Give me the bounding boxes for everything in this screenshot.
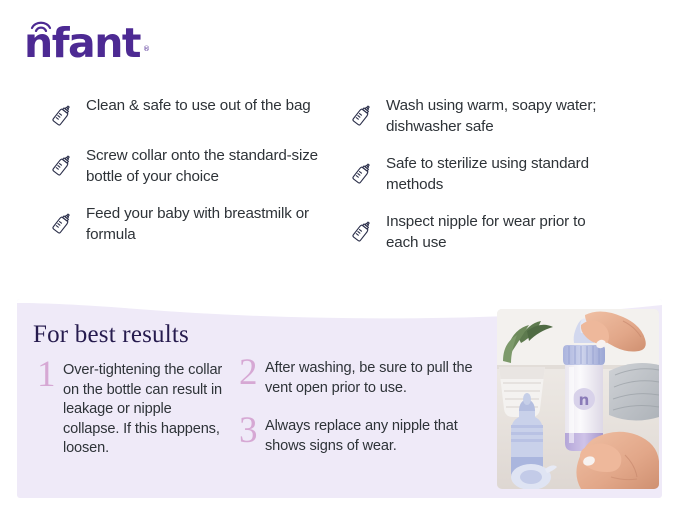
tip-text: Over-tightening the collar on the bottle… — [63, 361, 231, 459]
tip-number: 2 — [239, 355, 265, 391]
feature-text: Inspect nipple for wear prior to each us… — [386, 212, 618, 253]
tip-text: After washing, be sure to pull the vent … — [265, 359, 483, 398]
brand-wordmark: nfant — [24, 20, 140, 66]
feature-list: Clean & safe to use out of the bag — [0, 96, 679, 291]
feature-item: Wash using warm, soapy water; dishwasher… — [348, 96, 648, 137]
baby-bottle-icon — [348, 217, 376, 245]
feature-column-left: Clean & safe to use out of the bag — [48, 96, 348, 262]
panel-title: For best results — [33, 321, 189, 349]
for-best-results-panel: For best results 1 Over-tightening the c… — [17, 299, 662, 498]
tip-text: Always replace any nipple that shows sig… — [265, 417, 483, 456]
feature-item: Feed your baby with breastmilk or formul… — [48, 204, 348, 245]
feature-item: Screw collar onto the standard-size bott… — [48, 146, 348, 187]
tip-number: 1 — [37, 357, 63, 393]
tip-number: 3 — [239, 413, 265, 449]
feature-item: Clean & safe to use out of the bag — [48, 96, 348, 129]
feature-item: Inspect nipple for wear prior to each us… — [348, 212, 648, 253]
feature-text: Feed your baby with breastmilk or formul… — [86, 204, 318, 245]
feature-text: Safe to sterilize using standard methods — [386, 154, 618, 195]
svg-text:n: n — [579, 391, 590, 409]
product-infographic-page: nfant ® — [0, 0, 679, 515]
tip-item: 1 Over-tightening the collar on the bott… — [37, 361, 242, 459]
baby-bottle-icon — [48, 151, 76, 179]
feature-text: Clean & safe to use out of the bag — [86, 96, 311, 117]
baby-bottle-icon — [48, 209, 76, 237]
feature-item: Safe to sterilize using standard methods — [348, 154, 648, 195]
brand-logo: nfant ® — [24, 20, 284, 68]
baby-bottle-icon — [48, 101, 76, 129]
registered-trademark-mark: ® — [143, 46, 150, 53]
tip-item: 2 After washing, be sure to pull the ven… — [239, 359, 489, 398]
product-photo-hands-holding-bottle: n — [497, 309, 659, 489]
feature-text: Wash using warm, soapy water; dishwasher… — [386, 96, 618, 137]
baby-bottle-icon — [348, 159, 376, 187]
baby-bottle-icon — [348, 101, 376, 129]
feature-column-right: Wash using warm, soapy water; dishwasher… — [348, 96, 648, 270]
tip-item: 3 Always replace any nipple that shows s… — [239, 417, 489, 456]
feature-text: Screw collar onto the standard-size bott… — [86, 146, 318, 187]
